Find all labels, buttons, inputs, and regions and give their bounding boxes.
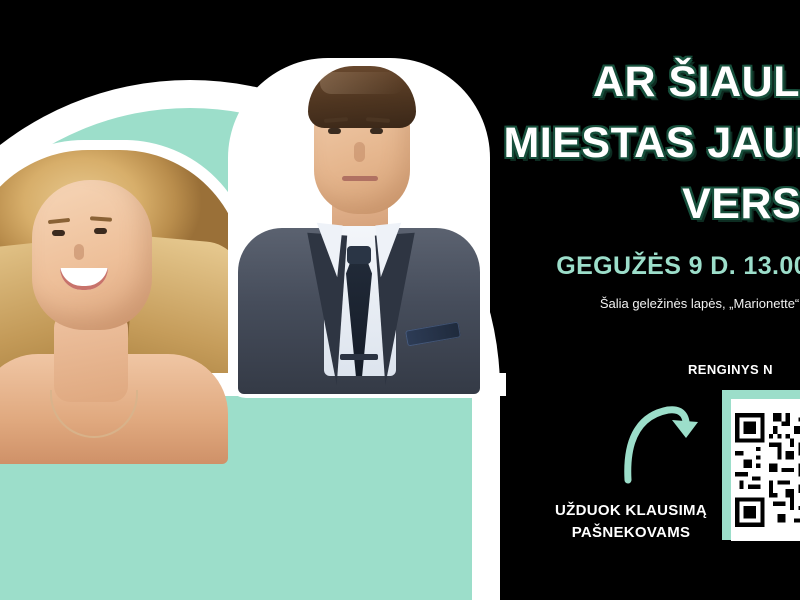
cta-label-line-1: UŽDUOK KLAUSIMĄ xyxy=(555,502,707,519)
man-eye-right xyxy=(370,128,383,134)
speaker-name: JUSTINAS ŠVĖGŽDA xyxy=(0,516,452,547)
qr-title: RENGINYS N xyxy=(688,362,800,377)
woman-eye-right xyxy=(94,228,107,234)
woman-nose xyxy=(74,244,84,260)
cta-label: UŽDUOK KLAUSIMĄ PAŠNEKOVAMS xyxy=(538,500,724,544)
curved-arrow-right-icon xyxy=(616,392,708,484)
woman-face xyxy=(32,180,152,330)
man-nose xyxy=(354,142,365,162)
man-tie-clip xyxy=(340,354,378,360)
speaker-photo-woman xyxy=(0,140,254,380)
cta-label-line-2: PAŠNEKOVAMS xyxy=(572,524,691,541)
qr-code-frame[interactable] xyxy=(722,390,800,540)
woman-eye-left xyxy=(52,230,65,236)
man-mouth xyxy=(342,176,378,181)
qr-code-icon[interactable] xyxy=(731,399,800,541)
man-collar-left xyxy=(311,223,342,277)
event-poster: AR ŠIAULIA MIESTAS JAUNA VERSL GEGUŽĖS 9… xyxy=(0,0,800,600)
venue-line-1: Šalia geležinės lapės, „Marionette“ wake… xyxy=(600,296,800,311)
speaker-role: Šiaulių miesto savivaldybės vicemeras xyxy=(0,485,452,516)
man-eye-left xyxy=(328,128,341,134)
speakers-divider xyxy=(0,476,452,485)
question-cta: UŽDUOK KLAUSIMĄ PAŠNEKOVAMS RENGINYS N xyxy=(538,362,800,562)
man-tie-knot xyxy=(347,246,371,264)
man-collar-right xyxy=(375,223,406,277)
